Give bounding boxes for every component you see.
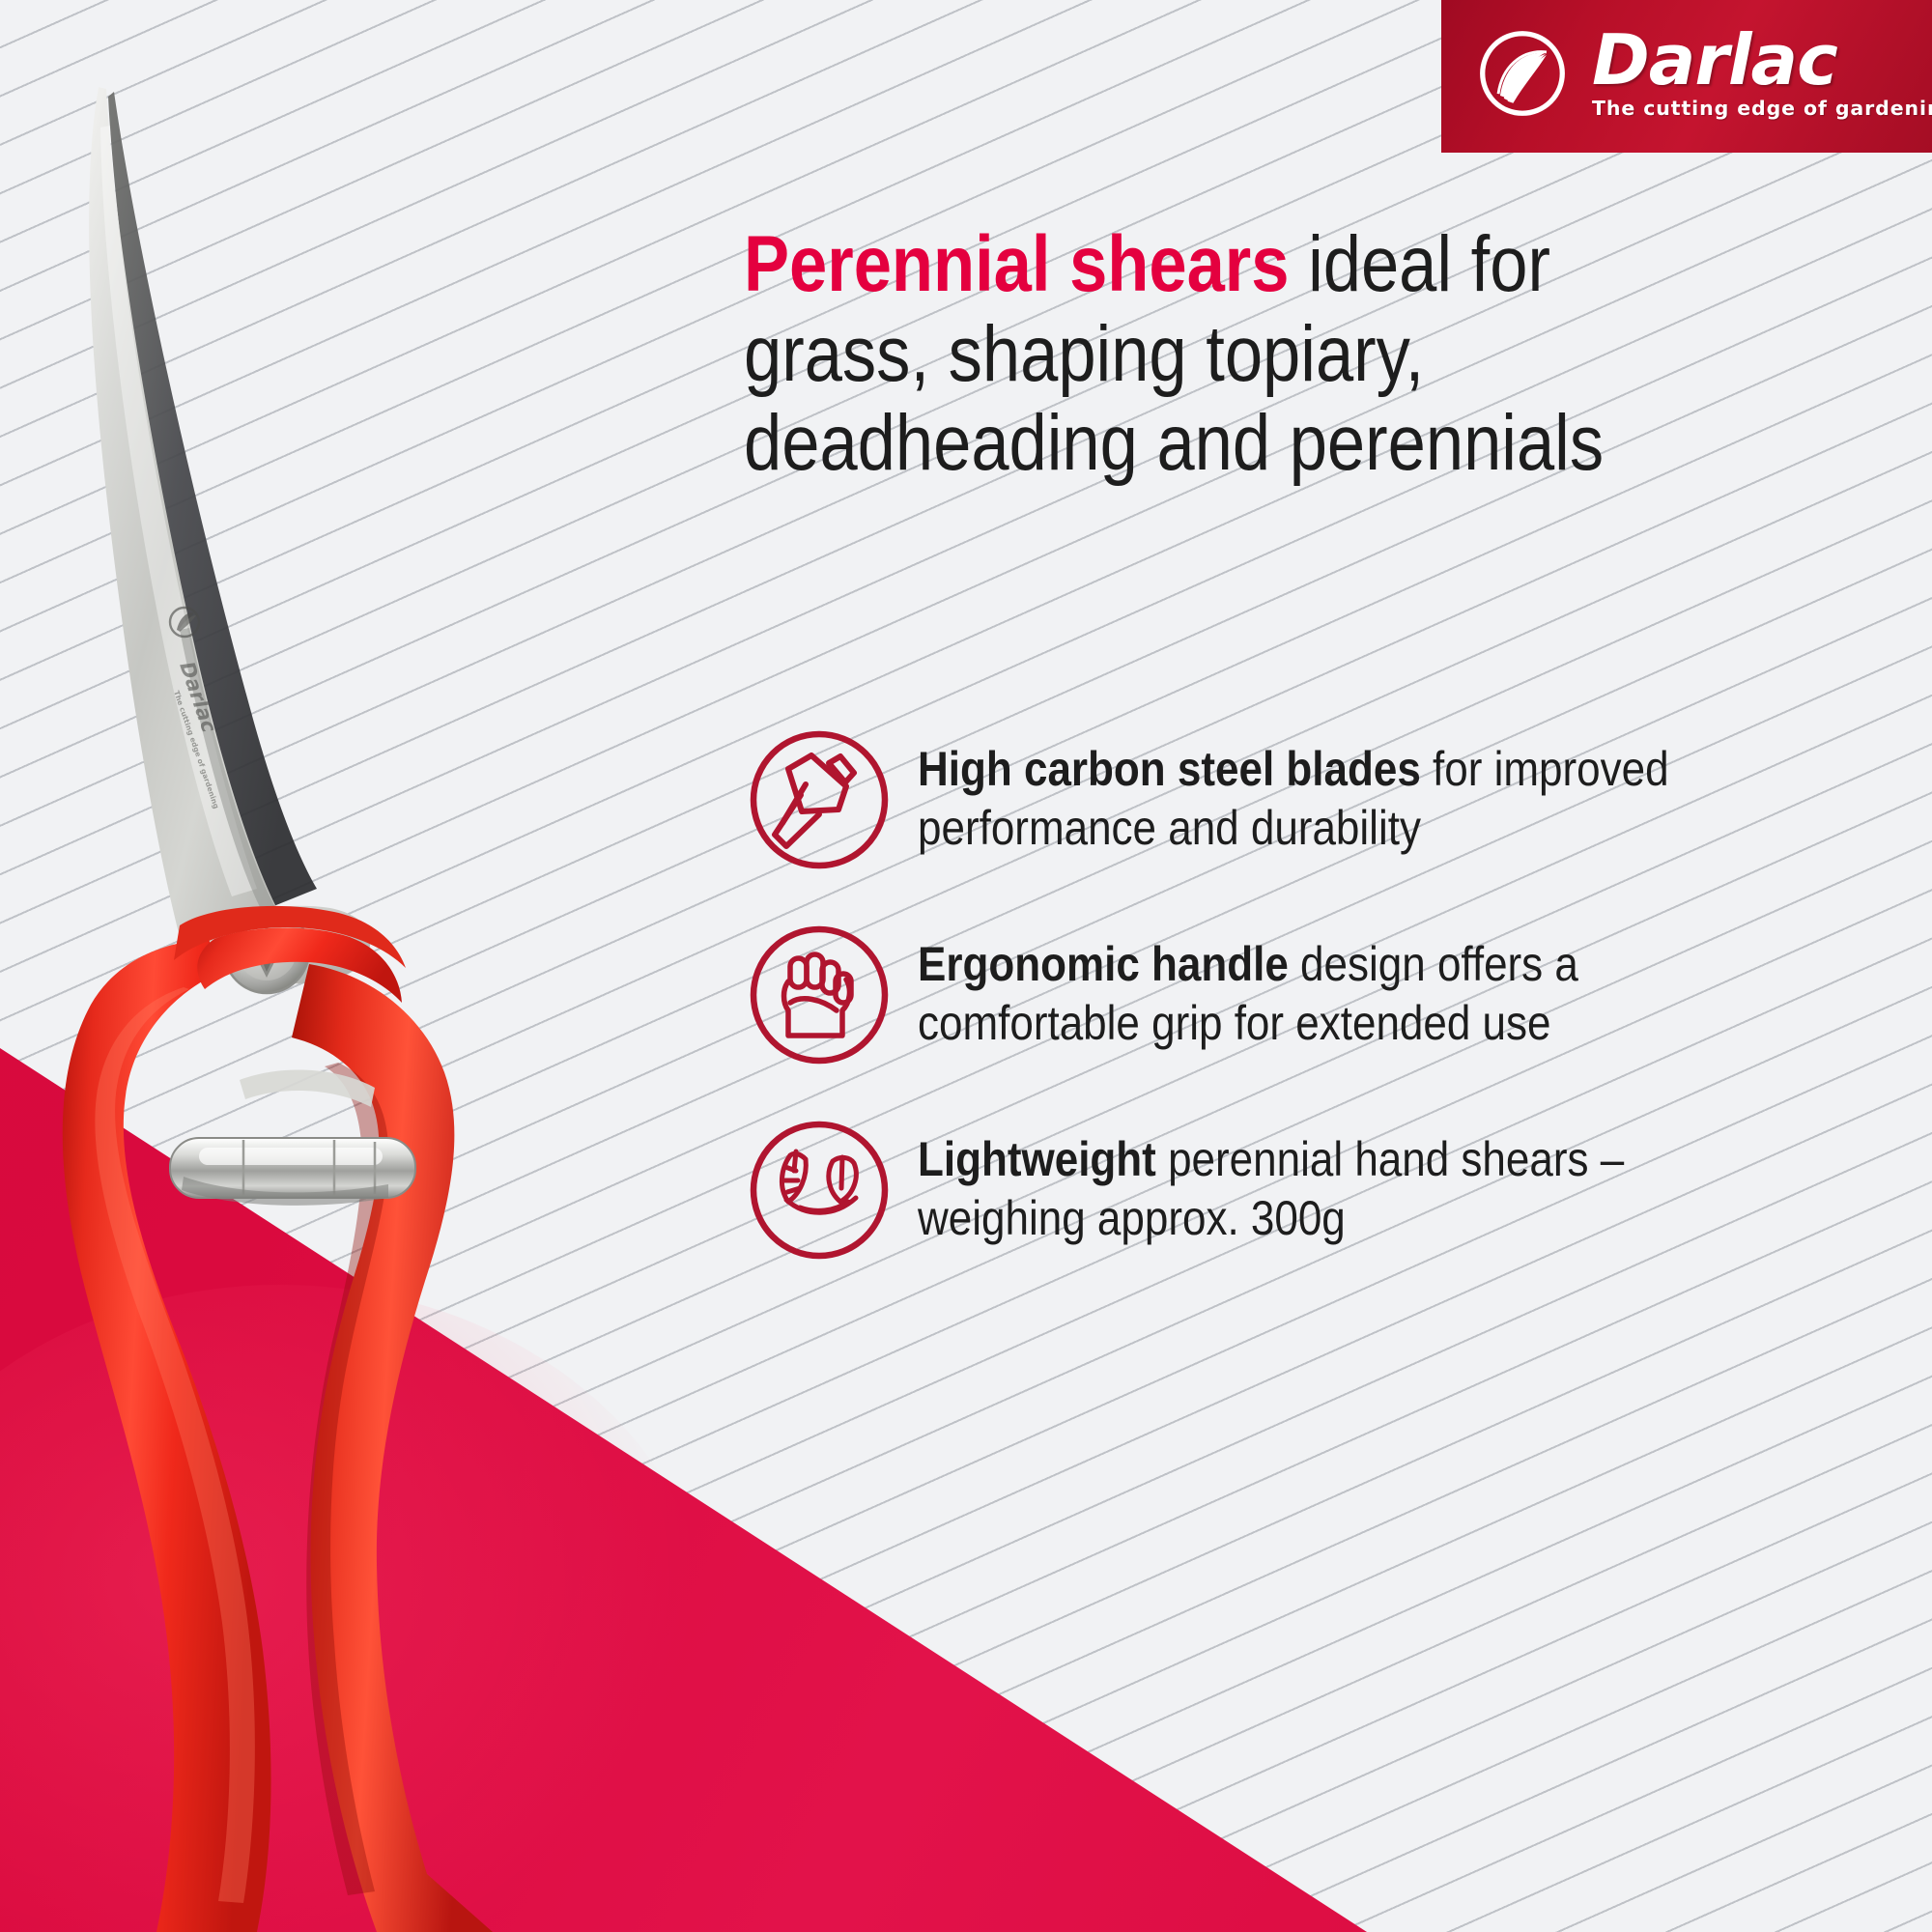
- list-item: Lightweight perennial hand shears – weig…: [746, 1124, 1915, 1264]
- feature-text: Lightweight perennial hand shears – weig…: [918, 1124, 1795, 1247]
- feature-text: High carbon steel blades for improved pe…: [918, 734, 1795, 857]
- infographic-canvas: Darlac The cutting edge of gardening: [0, 0, 1932, 1932]
- product-image-shears: Darlac The cutting edge of gardening: [0, 39, 724, 1932]
- headline-accent: Perennial shears: [744, 220, 1289, 308]
- feature-bold: Ergonomic handle: [918, 937, 1289, 991]
- fist-grip-icon: [746, 922, 893, 1068]
- brand-tagline: The cutting edge of gardening...: [1592, 97, 1932, 120]
- spring-latch: [170, 1138, 415, 1206]
- feature-bold: Lightweight: [918, 1132, 1156, 1186]
- feature-text: Ergonomic handle design offers a comfort…: [918, 929, 1795, 1052]
- page-title: Perennial shears ideal for grass, shapin…: [744, 220, 1749, 489]
- feather-icon: [746, 1117, 893, 1264]
- list-item: Ergonomic handle design offers a comfort…: [746, 929, 1915, 1068]
- list-item: High carbon steel blades for improved pe…: [746, 734, 1915, 873]
- leaf-in-circle-icon: [1476, 27, 1569, 120]
- feature-list: High carbon steel blades for improved pe…: [746, 734, 1915, 1264]
- feature-bold: High carbon steel blades: [918, 742, 1421, 796]
- brand-name: Darlac: [1592, 27, 1932, 94]
- brand-logo: Darlac The cutting edge of gardening...: [1441, 0, 1932, 153]
- hammer-icon: [746, 726, 893, 873]
